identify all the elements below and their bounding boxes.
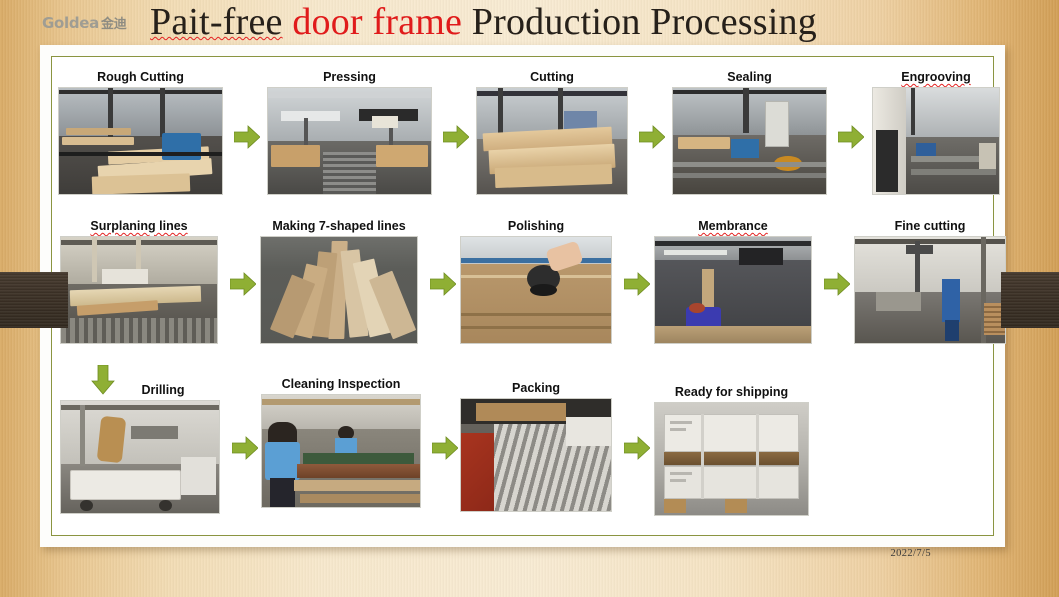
logo-chinese-text: 金迪 <box>101 17 126 32</box>
process-step-cutting[interactable]: Cutting <box>476 68 628 195</box>
step-photo-engrooving <box>872 87 1000 195</box>
process-step-sealing[interactable]: Sealing <box>672 68 827 195</box>
title-segment-door-frame: door frame <box>292 1 462 43</box>
step-label: Packing <box>512 381 560 395</box>
step-label: Fine cutting <box>895 219 966 233</box>
process-row-2: Surplaning lines Making 7-shaped line <box>52 217 992 357</box>
step-label: Membrance <box>698 219 767 233</box>
logo-text: Goldea <box>42 14 99 32</box>
flow-arrow-right-icon <box>232 435 258 461</box>
step-photo-surplaning-lines <box>60 236 218 344</box>
process-step-cleaning-inspection[interactable]: Cleaning Inspection <box>261 375 421 508</box>
decorative-bar-left <box>0 272 68 328</box>
process-step-membrance[interactable]: Membrance <box>654 217 812 344</box>
step-photo-drilling <box>60 400 220 514</box>
step-label: Surplaning lines <box>90 219 187 233</box>
step-label: Engrooving <box>901 70 970 84</box>
date-stamp: 2022/7/5 <box>890 548 931 559</box>
process-step-packing[interactable]: Packing <box>460 379 612 512</box>
process-flow-diagram: Rough Cutting <box>52 60 992 540</box>
process-step-polishing[interactable]: Polishing <box>460 217 612 344</box>
title-segment-paint-free: Pait-free <box>150 1 283 43</box>
process-step-ready-for-shipping[interactable]: Ready for shipping <box>654 383 809 516</box>
step-label: Pressing <box>323 70 376 84</box>
step-photo-pressing <box>267 87 432 195</box>
step-photo-membrance <box>654 236 812 344</box>
step-photo-sealing <box>672 87 827 195</box>
step-label: Making 7-shaped lines <box>272 219 405 233</box>
flow-arrow-right-icon <box>430 271 456 297</box>
process-step-pressing[interactable]: Pressing <box>267 68 432 195</box>
process-step-drilling[interactable]: Drilling <box>60 381 220 514</box>
flow-arrow-right-icon <box>624 435 650 461</box>
step-photo-fine-cutting <box>854 236 1006 344</box>
slide-header: Goldea金迪 Pait-free door frame Production… <box>0 0 1059 46</box>
flow-arrow-right-icon <box>824 271 850 297</box>
step-label: Sealing <box>727 70 771 84</box>
flow-arrow-right-icon <box>624 271 650 297</box>
process-row-1: Rough Cutting <box>52 68 992 208</box>
process-step-rough-cutting[interactable]: Rough Cutting <box>58 68 223 195</box>
slide-canvas: Goldea金迪 Pait-free door frame Production… <box>0 0 1059 597</box>
step-label: Polishing <box>508 219 564 233</box>
process-step-fine-cutting[interactable]: Fine cutting <box>854 217 1006 344</box>
flow-arrow-down-icon <box>90 365 116 395</box>
process-step-engrooving[interactable]: Engrooving <box>872 68 1000 195</box>
step-label: Drilling <box>141 383 184 397</box>
company-logo: Goldea金迪 <box>42 13 126 32</box>
step-photo-cleaning-inspection <box>261 394 421 508</box>
flow-arrow-right-icon <box>443 124 469 150</box>
step-photo-making-7-shaped-lines <box>260 236 418 344</box>
flow-arrow-right-icon <box>234 124 260 150</box>
step-photo-rough-cutting <box>58 87 223 195</box>
step-photo-ready-for-shipping <box>654 402 809 516</box>
step-label: Ready for shipping <box>675 385 788 399</box>
decorative-bar-right <box>1001 272 1059 328</box>
process-row-3: Drilling Cleaning Inspecti <box>52 365 992 515</box>
step-label: Cleaning Inspection <box>282 377 401 391</box>
step-photo-polishing <box>460 236 612 344</box>
step-photo-packing <box>460 398 612 512</box>
flow-arrow-right-icon <box>432 435 458 461</box>
step-label: Rough Cutting <box>97 70 184 84</box>
step-photo-cutting <box>476 87 628 195</box>
flow-arrow-right-icon <box>230 271 256 297</box>
page-title: Pait-free door frame Production Processi… <box>150 0 950 44</box>
flow-arrow-right-icon <box>639 124 665 150</box>
process-step-making-7-shaped-lines[interactable]: Making 7-shaped lines <box>260 217 418 344</box>
title-segment-production: Production Processing <box>472 1 817 43</box>
process-step-surplaning-lines[interactable]: Surplaning lines <box>60 217 218 344</box>
step-label: Cutting <box>530 70 574 84</box>
flow-arrow-right-icon <box>838 124 864 150</box>
